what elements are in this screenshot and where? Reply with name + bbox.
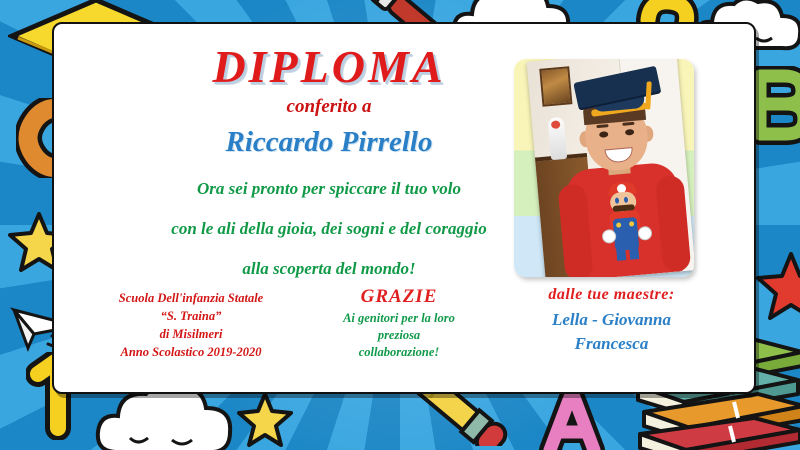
verse-line: con le ali della gioia, dei sogni e del … bbox=[104, 209, 554, 249]
page-title: DIPLOMA bbox=[164, 40, 494, 93]
school-line: “S. Traina” bbox=[76, 307, 306, 325]
school-info: Scuola Dell'infanzia Statale “S. Traina”… bbox=[76, 289, 306, 361]
student-photo bbox=[527, 59, 694, 277]
certificate-canvas: DIPLOMA conferito a Riccardo Pirrello Or… bbox=[0, 0, 800, 450]
student-name: Riccardo Pirrello bbox=[134, 126, 524, 159]
thanks-line: Ai genitori per la loro bbox=[304, 310, 494, 327]
student-photo-frame bbox=[514, 59, 694, 277]
teachers-line: Lella - Giovanna bbox=[494, 308, 729, 332]
thanks-line: preziosa bbox=[304, 327, 494, 344]
verse-block: Ora sei pronto per spiccare il tuo volo … bbox=[104, 169, 554, 289]
teachers-block: dalle tue maestre: Lella - Giovanna Fran… bbox=[494, 286, 729, 356]
star-icon bbox=[756, 250, 800, 320]
verse-line: Ora sei pronto per spiccare il tuo volo bbox=[104, 169, 554, 209]
school-line: di Misilmeri bbox=[76, 325, 306, 343]
star-icon bbox=[236, 390, 294, 448]
teachers-label: dalle tue maestre: bbox=[494, 286, 729, 304]
school-line: Anno Scolastico 2019-2020 bbox=[76, 343, 306, 361]
mario-print bbox=[596, 180, 655, 266]
thanks-block: GRAZIE Ai genitori per la loro preziosa … bbox=[304, 286, 494, 361]
teachers-line: Francesca bbox=[494, 332, 729, 356]
thanks-heading: GRAZIE bbox=[304, 286, 494, 308]
teachers-names: Lella - Giovanna Francesca bbox=[494, 308, 729, 356]
conferred-label: conferito a bbox=[164, 96, 494, 118]
school-line: Scuola Dell'infanzia Statale bbox=[76, 289, 306, 307]
certificate-card: DIPLOMA conferito a Riccardo Pirrello Or… bbox=[52, 22, 756, 394]
wall-picture bbox=[539, 66, 572, 106]
thanks-body: Ai genitori per la loro preziosa collabo… bbox=[304, 310, 494, 361]
verse-line: alla scoperta del mondo! bbox=[104, 249, 554, 289]
thanks-line: collaborazione! bbox=[304, 344, 494, 361]
